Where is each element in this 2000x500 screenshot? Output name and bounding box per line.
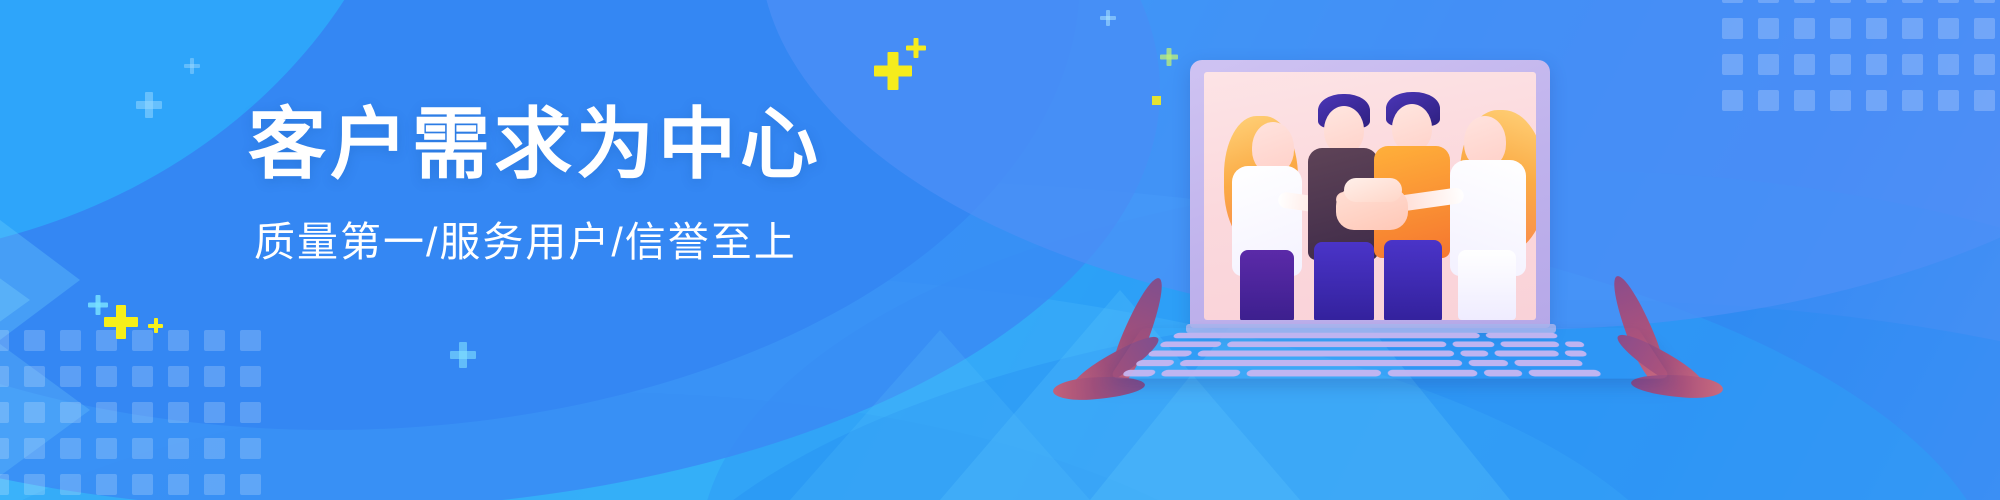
square-grid-top-right [1722,0,2000,126]
banner-text-block: 客户需求为中心 质量第一/服务用户/信誉至上 [248,104,868,265]
bottom [1384,240,1442,320]
key-row [1135,360,1584,366]
key-row [1122,370,1603,377]
laptop-screen [1204,72,1536,320]
laptop-illustration: 四人团队握手笔记本电脑插画 [1146,42,1626,500]
key-row [1147,350,1588,356]
hands-together-upper [1344,178,1402,202]
plus-yellow-tiny-icon [148,318,163,333]
key-row [1172,333,1558,339]
plus-cyan-mid-icon [450,342,476,368]
bottom [1240,250,1294,320]
bottom [1458,250,1516,320]
laptop-keyboard-base [1109,328,1672,379]
person-4-woman-blonde [1442,96,1536,320]
plus-cyan-top-icon [1100,10,1116,26]
plus-cyan-small-icon [184,58,200,74]
illustration-alt-text: 四人团队握手笔记本电脑插画 [1146,42,1147,43]
head [1392,104,1432,152]
plus-cyan-icon [136,92,162,118]
plus-yellow-small-icon [906,38,926,58]
square-grid-bottom-left [0,330,276,500]
bottom [1314,242,1374,320]
promo-banner: 客户需求为中心 质量第一/服务用户/信誉至上 [0,0,2000,500]
plus-yellow-bottom-icon [104,305,138,339]
banner-headline: 客户需求为中心 [248,104,868,186]
head [1324,106,1364,154]
key-row [1159,341,1586,347]
banner-subline: 质量第一/服务用户/信誉至上 [254,220,868,265]
